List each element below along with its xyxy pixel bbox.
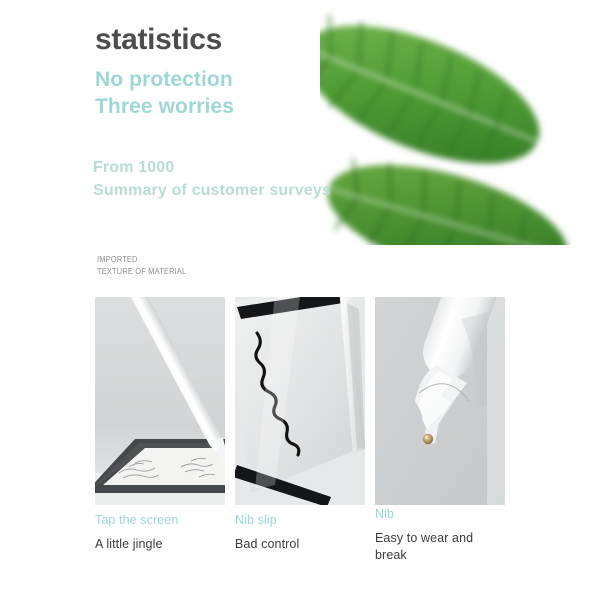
material-block: IMPORTED TEXTURE OF MATERIAL (97, 254, 193, 277)
panel-caption-text: Easy to wear and break (375, 530, 505, 564)
wobbly-line-on-tablet-photo (235, 297, 365, 505)
stylus-on-tablet-photo (95, 297, 225, 505)
stylus-on-tablet-graphic (95, 297, 225, 505)
wobbly-line-graphic (235, 297, 365, 505)
panel-column: Nib slip Bad control (235, 297, 365, 564)
survey-line-1: From 1000 (93, 157, 433, 180)
panel-column: Nib Easy to wear and break (375, 297, 505, 564)
stylus-nib-closeup-photo (375, 297, 505, 505)
panel-caption-title: Tap the screen (95, 513, 225, 528)
panel-caption-text: A little jingle (95, 536, 225, 553)
panel-caption-text: Bad control (235, 536, 365, 553)
header-block: statistics No protection Three worries (95, 24, 425, 121)
panel-row: Tap the screen A little jingle (95, 297, 505, 564)
panel-column: Tap the screen A little jingle (95, 297, 225, 564)
page-title: statistics (95, 24, 425, 56)
poster-canvas: statistics No protection Three worries F… (0, 0, 600, 600)
material-line-1: IMPORTED (97, 254, 186, 266)
survey-line-2: Summary of customer surveys (93, 180, 433, 203)
panel-caption-title: Nib (375, 507, 505, 522)
survey-block: From 1000 Summary of customer surveys (93, 157, 433, 202)
stylus-nib-graphic (375, 297, 505, 505)
subtitle-line-2: Three worries (95, 93, 425, 121)
panel-caption-title: Nib slip (235, 513, 365, 528)
subtitle-line-1: No protection (95, 66, 425, 94)
material-line-2: TEXTURE OF MATERIAL (97, 266, 186, 278)
